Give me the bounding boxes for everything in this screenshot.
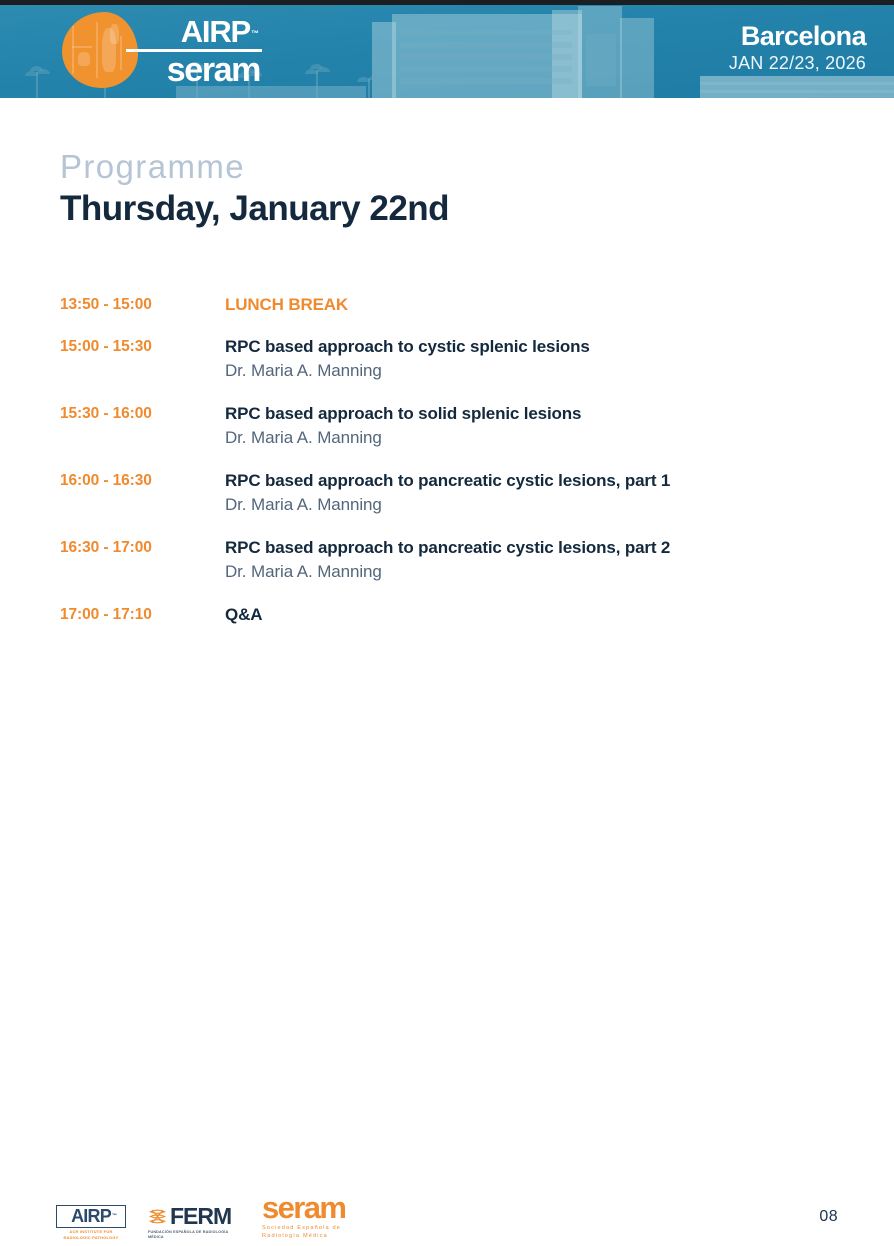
slot-speaker: Dr. Maria A. Manning [225,358,850,383]
slot-time: 15:30 - 16:00 [60,403,225,425]
slot-title: RPC based approach to pancreatic cystic … [225,470,850,492]
slot-content: Q&A [225,604,850,626]
ferm-logo-row: FERM [148,1205,240,1228]
building-window-band [400,78,572,84]
low-building-shape [700,76,894,98]
logo-wordmark: AIRP™ seram [110,16,262,87]
schedule-row: 16:30 - 17:00 RPC based approach to panc… [60,537,850,584]
airp-footer-logo[interactable]: AIRP™ ACR INSTITUTE FOR RADIOLOGIC PATHO… [56,1205,126,1240]
infinity-knot-icon [148,1207,167,1226]
ferm-logo-label: FERM [170,1205,231,1228]
page-title: Thursday, January 22nd [60,188,449,230]
airp-logo-text: AIRP™ [71,1207,111,1226]
top-dark-strip [0,0,894,5]
airp-logo-subtitle-line2: RADIOLOGIC PATHOLOGY [56,1235,126,1240]
slot-time: 15:00 - 15:30 [60,336,225,358]
building-window-band [586,34,616,86]
slot-speaker: Dr. Maria A. Manning [225,425,850,450]
slot-time: 13:50 - 15:00 [60,294,225,316]
slot-speaker: Dr. Maria A. Manning [225,559,850,584]
schedule-row: 16:00 - 16:30 RPC based approach to panc… [60,470,850,517]
building-shape [620,18,654,98]
building-window-band [400,30,572,35]
slot-title: Q&A [225,604,850,626]
slot-content: RPC based approach to cystic splenic les… [225,336,850,383]
slot-content: RPC based approach to pancreatic cystic … [225,537,850,584]
building-window-band [400,42,572,48]
slot-title: RPC based approach to pancreatic cystic … [225,537,850,559]
logo-seram-label: seram [110,53,262,87]
footer-logo-group: AIRP™ ACR INSTITUTE FOR RADIOLOGIC PATHO… [56,1193,380,1240]
programme-page: AIRP™ seram Barcelona JAN 22/23, 2026 Pr… [0,0,894,1246]
schedule-row: 17:00 - 17:10 Q&A [60,604,850,626]
page-title-block: Programme Thursday, January 22nd [60,148,449,230]
seram-logo-subtitle: Sociedad Española de Radiología Médica [262,1224,380,1240]
building-window-band [400,66,572,72]
building-window-band [400,54,572,60]
page-number: 08 [819,1208,838,1226]
seram-logo-label: seram [262,1193,380,1223]
logo-airp-text: AIRP™ [110,16,262,48]
event-location-block: Barcelona JAN 22/23, 2026 [729,22,866,74]
schedule-row: 15:30 - 16:00 RPC based approach to soli… [60,403,850,450]
slot-time: 17:00 - 17:10 [60,604,225,626]
airp-seram-logo[interactable]: AIRP™ seram [62,8,262,92]
page-footer: AIRP™ ACR INSTITUTE FOR RADIOLOGIC PATHO… [0,1172,894,1246]
slot-content: RPC based approach to pancreatic cystic … [225,470,850,517]
logo-airp-label: AIRP [181,14,250,49]
event-dates: JAN 22/23, 2026 [729,52,866,74]
slot-title: RPC based approach to solid splenic lesi… [225,403,850,425]
slot-time: 16:30 - 17:00 [60,537,225,559]
slot-content: RPC based approach to solid splenic lesi… [225,403,850,450]
ferm-footer-logo[interactable]: FERM FUNDACIÓN ESPAÑOLA DE RADIOLOGÍA MÉ… [148,1205,240,1240]
building-shape [372,22,396,98]
slot-content: LUNCH BREAK [225,294,850,316]
schedule-row: 13:50 - 15:00 LUNCH BREAK [60,294,850,316]
event-city: Barcelona [729,22,866,51]
trademark-icon: ™ [251,18,259,50]
airp-logo-box: AIRP™ [56,1205,126,1228]
slot-title: LUNCH BREAK [225,294,850,316]
trademark-icon: ™ [112,1207,117,1226]
low-building-windows [700,82,894,85]
schedule-list: 13:50 - 15:00 LUNCH BREAK 15:00 - 15:30 … [60,294,850,646]
airp-logo-label: AIRP [71,1206,111,1226]
schedule-row: 15:00 - 15:30 RPC based approach to cyst… [60,336,850,383]
slot-speaker: Dr. Maria A. Manning [225,492,850,517]
header-banner: AIRP™ seram Barcelona JAN 22/23, 2026 [0,0,894,98]
seram-footer-logo[interactable]: seram Sociedad Española de Radiología Mé… [262,1193,380,1240]
page-kicker: Programme [60,148,449,186]
slot-title: RPC based approach to cystic splenic les… [225,336,850,358]
slot-time: 16:00 - 16:30 [60,470,225,492]
ferm-logo-subtitle: FUNDACIÓN ESPAÑOLA DE RADIOLOGÍA MÉDICA [148,1230,240,1240]
airp-logo-subtitle: ACR INSTITUTE FOR RADIOLOGIC PATHOLOGY [56,1229,126,1240]
low-building-windows [700,90,894,93]
